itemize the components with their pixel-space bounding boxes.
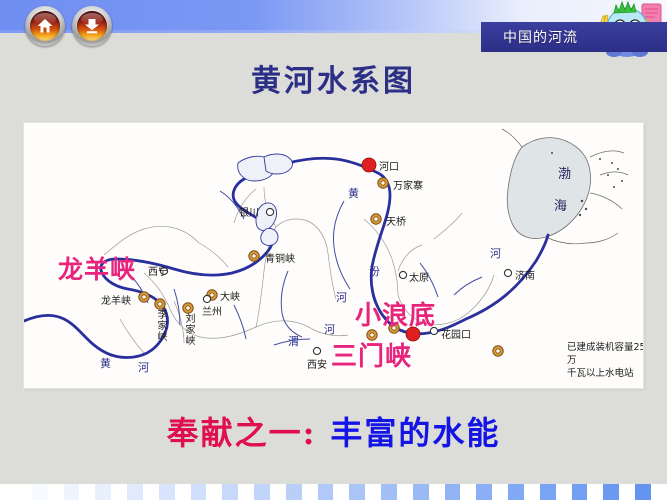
sea-label-hai: 海 bbox=[554, 195, 567, 214]
station-label-daxia: 大峡 bbox=[220, 288, 240, 303]
river-char-huang-north: 黄 bbox=[348, 185, 359, 201]
next-button[interactable] bbox=[72, 6, 112, 46]
river-char-he-mid: 河 bbox=[336, 289, 347, 305]
sea-label-bo: 渤 bbox=[558, 163, 571, 182]
footer-checker-cell bbox=[95, 484, 111, 500]
hekou-red-marker bbox=[362, 158, 376, 172]
footer-checker-strip bbox=[0, 484, 667, 500]
footer-checker-cell bbox=[222, 484, 238, 500]
footer-checker-cell bbox=[191, 484, 207, 500]
footer-checker-cell bbox=[48, 484, 64, 500]
highlight-sanmenxia: 三门峡 bbox=[331, 336, 412, 373]
river-char-he-wei: 河 bbox=[324, 321, 335, 337]
footer-checker-cell bbox=[270, 484, 286, 500]
home-button[interactable] bbox=[25, 6, 65, 46]
footer-checker-cell bbox=[635, 484, 651, 500]
river-char-wei: 渭 bbox=[288, 333, 299, 349]
footer-checker-cell bbox=[508, 484, 524, 500]
footer-checker-cell bbox=[16, 484, 32, 500]
river-char-huang-south: 黄 bbox=[100, 355, 111, 371]
download-arrow-icon bbox=[83, 17, 101, 35]
page-title: 黄河水系图 bbox=[0, 56, 667, 100]
footer-checker-cell bbox=[175, 484, 191, 500]
legend-gear-marker-icon bbox=[493, 346, 503, 356]
footer-checker-cell bbox=[460, 484, 476, 500]
legend-line-2: 千瓦以上水电站 bbox=[567, 367, 643, 380]
city-label-jinan: 济南 bbox=[515, 267, 535, 282]
highlight-longyangxia: 龙羊峡 bbox=[58, 250, 136, 286]
footer-checker-cell bbox=[587, 484, 603, 500]
footer-checker-cell bbox=[429, 484, 445, 500]
footer-checker-cell bbox=[32, 484, 48, 500]
next-button-face bbox=[77, 11, 107, 41]
station-label-wanjiazhai: 万家寨 bbox=[393, 177, 423, 192]
footer-checker-cell bbox=[0, 484, 16, 500]
home-button-face bbox=[30, 11, 60, 41]
footer-checker-cell bbox=[238, 484, 254, 500]
city-label-taiyuan: 太原 bbox=[409, 269, 429, 284]
river-char-fen: 汾 bbox=[369, 263, 380, 279]
footer-checker-cell bbox=[397, 484, 413, 500]
map-panel: 银川 西宁 兰州 太原 济南 西安 花园口 河口 万家寨 天桥 青铜峡 大峡 龙… bbox=[24, 123, 643, 388]
river-char-he-east: 河 bbox=[490, 245, 501, 261]
station-label-tianqiao: 天桥 bbox=[386, 213, 406, 228]
footer-checker-cell bbox=[651, 484, 667, 500]
footer-checker-cell bbox=[127, 484, 143, 500]
footer-checker-cell bbox=[492, 484, 508, 500]
footer-checker-cell bbox=[159, 484, 175, 500]
footer-checker-cell bbox=[286, 484, 302, 500]
bottom-caption: 奉献之一:丰富的水能 bbox=[0, 408, 667, 454]
city-label-lanzhou: 兰州 bbox=[202, 303, 222, 318]
footer-checker-cell bbox=[111, 484, 127, 500]
corner-banner: 中国的河流 bbox=[481, 22, 667, 52]
caption-part-a: 奉献之一: bbox=[167, 414, 317, 452]
footer-checker-cell bbox=[619, 484, 635, 500]
footer-checker-cell bbox=[64, 484, 80, 500]
caption-part-b: 丰富的水能 bbox=[330, 414, 500, 452]
station-label-qingtongxia: 青铜峡 bbox=[265, 250, 295, 265]
river-char-he-south: 河 bbox=[138, 359, 149, 375]
footer-checker-cell bbox=[349, 484, 365, 500]
footer-checker-cell bbox=[540, 484, 556, 500]
legend-line-1: 已建成装机容量25万 bbox=[567, 341, 643, 367]
footer-checker-cell bbox=[206, 484, 222, 500]
station-label-longyangxia: 龙羊峡 bbox=[101, 292, 131, 307]
footer-checker-cell bbox=[318, 484, 334, 500]
city-label-yinchuan: 银川 bbox=[239, 204, 259, 219]
station-label-lijiaxia: 李家峡 bbox=[153, 309, 168, 342]
footer-checker-cell bbox=[572, 484, 588, 500]
footer-checker-cell bbox=[603, 484, 619, 500]
footer-checker-cell bbox=[381, 484, 397, 500]
bohai-sea-shape bbox=[507, 138, 590, 239]
footer-checker-cell bbox=[524, 484, 540, 500]
highlight-xiaolangdi: 小浪底 bbox=[355, 295, 436, 332]
city-label-xian: 西安 bbox=[307, 356, 327, 371]
home-icon bbox=[36, 17, 54, 35]
footer-checker-cell bbox=[79, 484, 95, 500]
footer-checker-cell bbox=[333, 484, 349, 500]
footer-checker-cell bbox=[365, 484, 381, 500]
footer-checker-cell bbox=[302, 484, 318, 500]
footer-checker-cell bbox=[254, 484, 270, 500]
footer-checker-cell bbox=[476, 484, 492, 500]
station-label-liujiaxia: 刘家峡 bbox=[181, 313, 196, 346]
footer-checker-cell bbox=[556, 484, 572, 500]
footer-checker-cell bbox=[413, 484, 429, 500]
station-label-hekou: 河口 bbox=[379, 158, 399, 173]
corner-banner-label: 中国的河流 bbox=[503, 27, 578, 47]
footer-checker-cell bbox=[445, 484, 461, 500]
city-label-huayuankou: 花园口 bbox=[441, 326, 471, 341]
footer-checker-cell bbox=[143, 484, 159, 500]
legend-text: 已建成装机容量25万 千瓦以上水电站 bbox=[567, 341, 643, 380]
city-label-xining: 西宁 bbox=[148, 263, 168, 278]
